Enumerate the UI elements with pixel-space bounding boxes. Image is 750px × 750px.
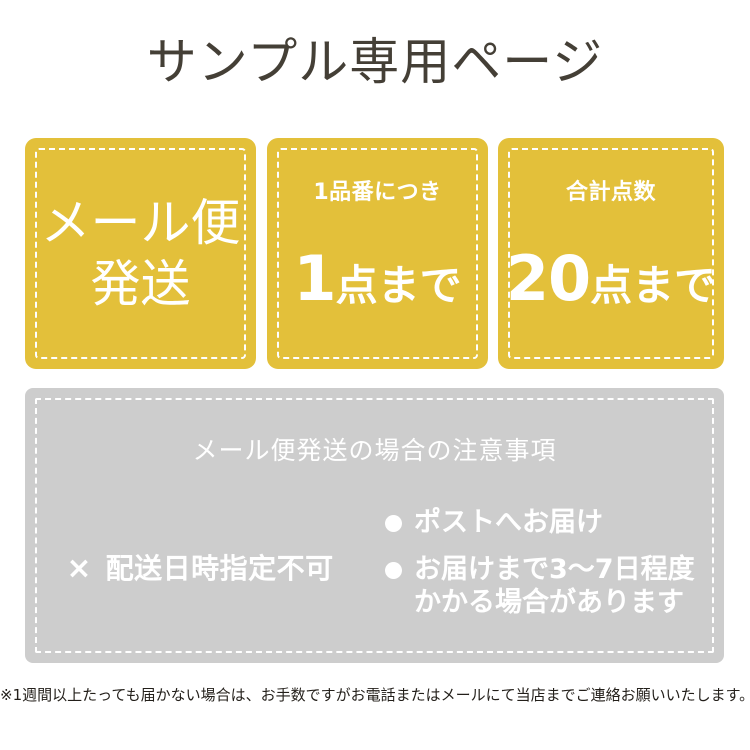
card-total-limit-content: 合計点数 20 点まで (498, 138, 724, 369)
shipping-notice-panel: メール便発送の場合の注意事項 × 配送日時指定不可 ポストへお届け (25, 388, 724, 663)
card-shipping-method-line2: 発送 (91, 254, 191, 315)
card-total-limit-number: 20 (506, 248, 590, 310)
bullet-text: ポストへお届け (414, 506, 603, 539)
cross-icon: × (66, 554, 91, 584)
bullet-line-1: ポストへお届け (414, 507, 603, 538)
sample-shipping-info-page: サンプル専用ページ メール便 発送 1品番につき 1 点まで (0, 0, 750, 750)
restriction-row: × 配送日時指定不可 (66, 553, 333, 585)
bullet-line-2: かかる場合があります (414, 586, 695, 619)
card-total-limit-unit: 点まで (590, 265, 716, 307)
card-shipping-method: メール便 発送 (25, 138, 256, 369)
shipping-cards-row: メール便 発送 1品番につき 1 点まで 合計点数 20 点まで (25, 138, 724, 369)
bullet-dot-icon (385, 515, 402, 532)
shipping-notice-body: × 配送日時指定不可 ポストへお届け お届けまで3〜7日程度 かかる場合がありま… (25, 504, 724, 634)
footnote-text: ※1週間以上たっても届かない場合は、お手数ですがお電話またはメールにて当店までご… (0, 684, 750, 706)
shipping-notice-heading: メール便発送の場合の注意事項 (25, 435, 724, 467)
list-item: ポストへお届け (385, 506, 724, 539)
card-per-item-limit-caption: 1品番につき (313, 180, 441, 206)
bullet-text: お届けまで3〜7日程度 かかる場合があります (414, 553, 695, 619)
card-per-item-limit: 1品番につき 1 点まで (267, 138, 488, 369)
restriction-label: 配送日時指定不可 (106, 553, 334, 585)
card-per-item-limit-content: 1品番につき 1 点まで (267, 138, 488, 369)
list-item: お届けまで3〜7日程度 かかる場合があります (385, 553, 724, 619)
card-total-limit: 合計点数 20 点まで (498, 138, 724, 369)
shipping-notice-restriction: × 配送日時指定不可 (25, 504, 375, 634)
card-shipping-method-content: メール便 発送 (25, 138, 256, 369)
card-shipping-method-line1: メール便 (41, 193, 241, 254)
bullet-dot-icon (385, 562, 402, 579)
card-total-limit-value: 20 点まで (506, 248, 716, 310)
card-per-item-limit-unit: 点まで (336, 265, 462, 307)
card-total-limit-caption: 合計点数 (566, 180, 656, 206)
page-title: サンプル専用ページ (0, 32, 750, 92)
shipping-notice-bullets: ポストへお届け お届けまで3〜7日程度 かかる場合があります (375, 504, 724, 619)
bullet-line-1: お届けまで3〜7日程度 (414, 554, 695, 585)
card-per-item-limit-value: 1 点まで (293, 248, 461, 310)
card-per-item-limit-number: 1 (293, 248, 335, 310)
